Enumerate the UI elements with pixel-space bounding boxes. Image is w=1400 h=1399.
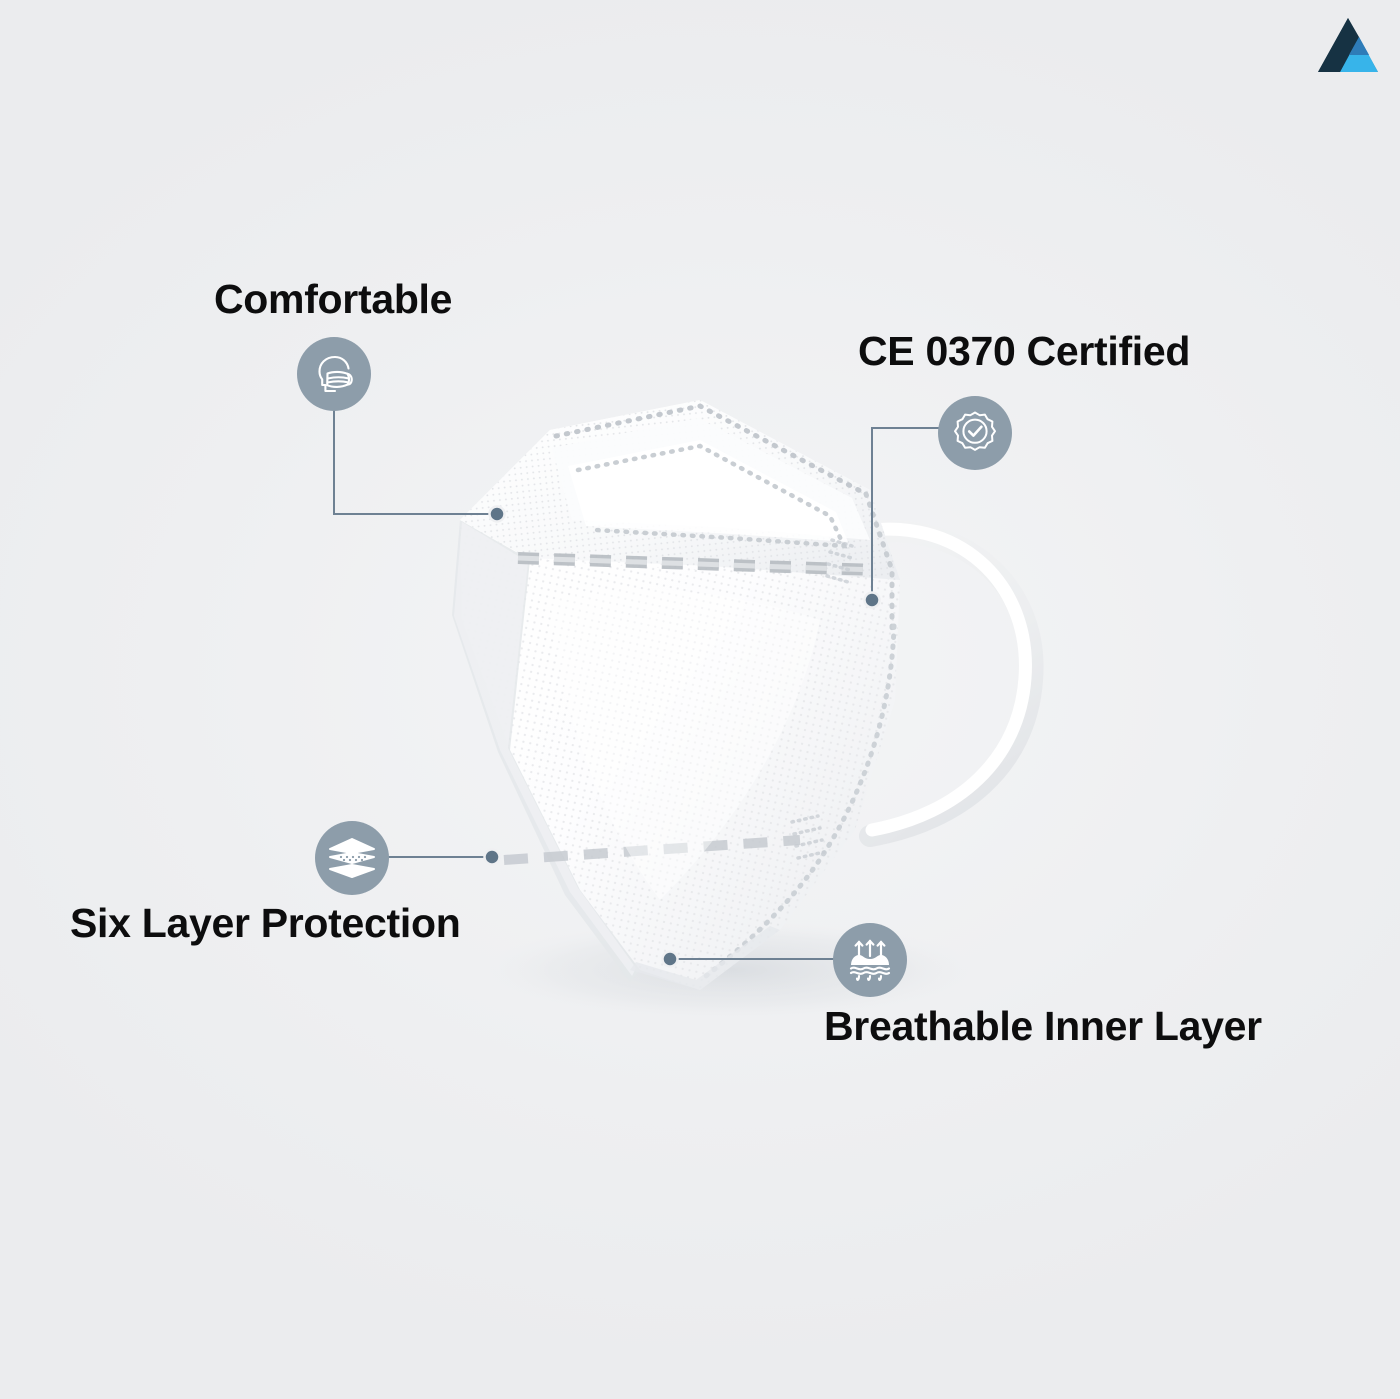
triangle-logo xyxy=(1316,16,1380,76)
stacked-layers-icon xyxy=(315,821,389,895)
feature-label-comfortable: Comfortable xyxy=(214,279,452,320)
feature-label-breathable-inner-layer: Breathable Inner Layer xyxy=(824,1006,1262,1047)
head-with-mask-icon xyxy=(297,337,371,411)
certification-badge-check-icon xyxy=(938,396,1012,470)
infographic-canvas: Comfortable CE 0370 Certified Six Layer … xyxy=(0,0,1400,1399)
airflow-breathable-icon xyxy=(833,923,907,997)
feature-label-ce-certified: CE 0370 Certified xyxy=(858,331,1190,372)
feature-label-six-layer-protection: Six Layer Protection xyxy=(70,903,460,944)
